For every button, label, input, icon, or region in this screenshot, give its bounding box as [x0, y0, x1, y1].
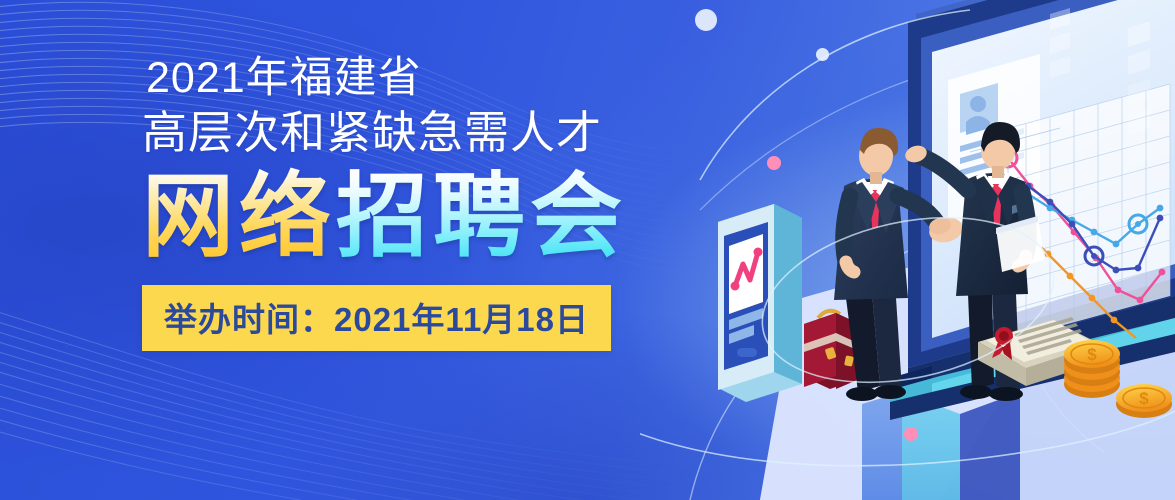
main-title: 网络招聘会 [142, 171, 702, 263]
main-title-part-1: 网络 [142, 166, 336, 268]
banner-text-block: 2021年福建省 高层次和紧缺急需人才 网络招聘会 举办时间：2021年11月1… [142, 52, 702, 351]
decor-dot-pink-bottom [904, 427, 918, 441]
isometric-illustration: $ $ [640, 0, 1175, 500]
svg-text:$: $ [1139, 389, 1149, 408]
decor-dot-white-small [816, 48, 829, 61]
decor-dot-pink-top [767, 156, 781, 170]
subtitle-line-2: 高层次和紧缺急需人才 [142, 106, 702, 161]
subtitle-line-1: 2021年福建省 [146, 52, 702, 104]
decor-dot-white-large [695, 9, 717, 31]
svg-text:$: $ [1087, 345, 1097, 364]
main-title-part-2: 招聘会 [336, 166, 627, 268]
event-date-banner: 举办时间：2021年11月18日 [142, 285, 611, 351]
illustration-svg: $ $ [640, 0, 1175, 500]
smartphone [718, 204, 802, 402]
recruitment-banner: $ $ 2021 [0, 0, 1175, 500]
